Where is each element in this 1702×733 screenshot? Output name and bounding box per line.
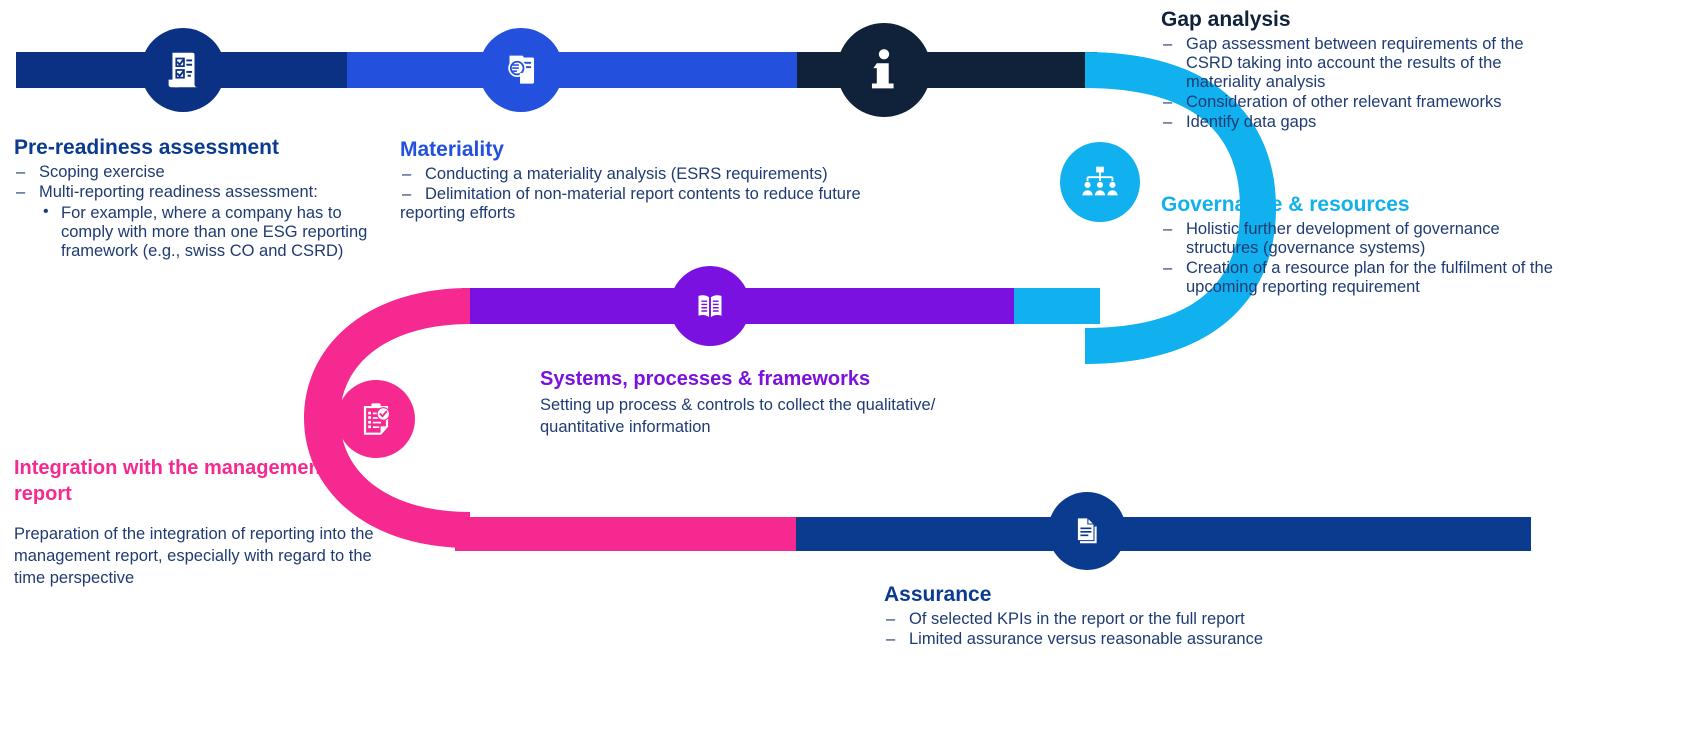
information-icon xyxy=(857,43,911,97)
governance-list: – Holistic further development of govern… xyxy=(1161,220,1561,297)
list-item-label: Limited assurance versus reasonable assu… xyxy=(909,630,1263,648)
list-item-label: Of selected KPIs in the report or the fu… xyxy=(909,610,1245,628)
document-search-icon xyxy=(498,47,544,93)
dash-marker: – xyxy=(1163,113,1172,132)
list-item: – Multi-reporting readiness assessment: … xyxy=(14,183,386,261)
node-materiality[interactable] xyxy=(479,28,563,112)
track-segment-materiality xyxy=(347,52,799,88)
dash-marker: – xyxy=(1163,259,1172,278)
pre-readiness-list: – Scoping exercise – Multi-reporting rea… xyxy=(14,163,386,261)
assurance-title: Assurance xyxy=(884,583,1404,607)
list-item-label: Creation of a resource plan for the fulf… xyxy=(1186,259,1553,296)
list-item: – Creation of a resource plan for the fu… xyxy=(1161,259,1561,297)
list-item-label: Identify data gaps xyxy=(1186,113,1316,131)
materiality-list: – Conducting a materiality analysis (ESR… xyxy=(400,165,920,223)
node-integration[interactable] xyxy=(337,380,415,458)
node-pre-readiness[interactable] xyxy=(141,28,225,112)
list-item-label: Multi-reporting readiness assessment: xyxy=(39,183,318,201)
list-item: – Holistic further development of govern… xyxy=(1161,220,1561,258)
integration-body: Preparation of the integration of report… xyxy=(14,523,374,589)
list-item-label: For example, where a company has to comp… xyxy=(61,204,367,260)
dash-marker: – xyxy=(1163,220,1172,239)
dash-marker: – xyxy=(1163,35,1172,54)
gap-analysis-list: – Gap assessment between requirements of… xyxy=(1161,35,1561,132)
list-item-label: Gap assessment between requirements of t… xyxy=(1186,35,1524,91)
list-item-label: Conducting a materiality analysis (ESRS … xyxy=(425,165,828,183)
pre-readiness-title: Pre-readiness assessment xyxy=(14,136,386,160)
report-document-icon xyxy=(1066,510,1108,552)
gap-analysis-title: Gap analysis xyxy=(1161,8,1561,32)
assurance-list: – Of selected KPIs in the report or the … xyxy=(884,610,1404,649)
process-flow-diagram: Pre-readiness assessment – Scoping exerc… xyxy=(0,0,1702,733)
block-integration: Integration with the management report P… xyxy=(14,455,374,589)
list-item: – Consideration of other relevant framew… xyxy=(1161,93,1561,112)
list-item-label: Delimitation of non-material report cont… xyxy=(400,185,920,223)
materiality-title: Materiality xyxy=(400,138,920,162)
list-item-label: Consideration of other relevant framewor… xyxy=(1186,93,1501,111)
block-systems: Systems, processes & frameworks Setting … xyxy=(540,368,1010,438)
list-item: – Of selected KPIs in the report or the … xyxy=(884,610,1404,629)
block-materiality: Materiality – Conducting a materiality a… xyxy=(400,138,920,224)
node-governance[interactable] xyxy=(1060,142,1140,222)
list-item: – Delimitation of non-material report co… xyxy=(400,185,920,223)
node-assurance[interactable] xyxy=(1048,492,1126,570)
dash-marker: – xyxy=(886,630,895,649)
systems-body: Setting up process & controls to collect… xyxy=(540,394,1010,438)
bullet-marker: • xyxy=(43,203,49,221)
node-systems[interactable] xyxy=(670,266,750,346)
org-chart-people-icon xyxy=(1077,159,1123,205)
open-book-icon xyxy=(687,283,733,329)
dash-marker: – xyxy=(886,610,895,629)
block-governance: Governance & resources – Holistic furthe… xyxy=(1161,193,1561,298)
dash-marker: – xyxy=(402,185,411,204)
governance-title: Governance & resources xyxy=(1161,193,1561,217)
track-segment-assurance xyxy=(796,517,1531,551)
track-segment-integration xyxy=(455,517,798,551)
dash-marker: – xyxy=(1163,93,1172,112)
list-item: – Conducting a materiality analysis (ESR… xyxy=(400,165,920,184)
systems-title: Systems, processes & frameworks xyxy=(540,368,1010,391)
block-gap-analysis: Gap analysis – Gap assessment between re… xyxy=(1161,8,1561,133)
list-item: • For example, where a company has to co… xyxy=(39,204,386,261)
node-gap-analysis[interactable] xyxy=(837,23,931,117)
checklist-document-icon xyxy=(160,47,206,93)
block-assurance: Assurance – Of selected KPIs in the repo… xyxy=(884,583,1404,650)
list-item: – Scoping exercise xyxy=(14,163,386,182)
pre-readiness-sublist: • For example, where a company has to co… xyxy=(39,204,386,261)
block-pre-readiness: Pre-readiness assessment – Scoping exerc… xyxy=(14,136,386,262)
dash-marker: – xyxy=(402,165,411,184)
list-item: – Identify data gaps xyxy=(1161,113,1561,132)
dash-marker: – xyxy=(16,163,25,182)
list-item-label: Holistic further development of governan… xyxy=(1186,220,1500,257)
track-segment-governance-tail xyxy=(1010,288,1100,324)
clipboard-check-icon xyxy=(354,397,398,441)
list-item-label: Scoping exercise xyxy=(39,163,165,181)
list-item: – Gap assessment between requirements of… xyxy=(1161,35,1561,92)
integration-title: Integration with the management report xyxy=(14,455,374,507)
dash-marker: – xyxy=(16,183,25,202)
list-item: – Limited assurance versus reasonable as… xyxy=(884,630,1404,649)
